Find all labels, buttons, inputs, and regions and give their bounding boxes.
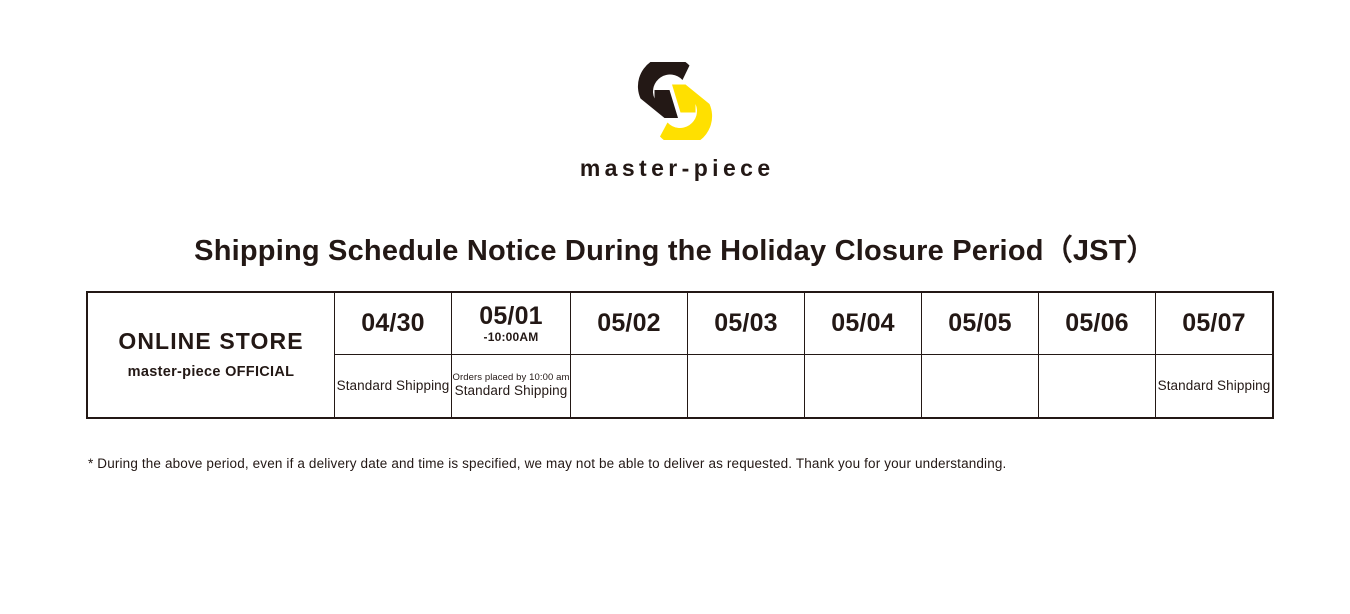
shipping-status: Standard Shipping <box>1156 378 1272 395</box>
date-label: 05/07 <box>1156 310 1272 336</box>
date-label: 05/05 <box>922 310 1038 336</box>
status-cell-0503-closed <box>688 355 805 419</box>
status-cell-0501: Orders placed by 10:00 am Standard Shipp… <box>452 355 571 419</box>
date-label: 04/30 <box>335 310 451 336</box>
shipping-status: Standard Shipping <box>335 378 451 395</box>
schedule-table-wrap: ONLINE STORE master-piece OFFICIAL 04/30… <box>86 291 1263 419</box>
status-cell-0504-closed <box>805 355 922 419</box>
date-label: 05/06 <box>1039 310 1155 336</box>
date-cutoff-time: -10:00AM <box>452 331 570 344</box>
date-label: 05/04 <box>805 310 921 336</box>
status-cell-0430: Standard Shipping <box>335 355 452 419</box>
brand-logo-block: master-piece <box>0 62 1350 180</box>
date-header-0504: 05/04 <box>805 292 922 355</box>
date-header-0505: 05/05 <box>922 292 1039 355</box>
shipping-cutoff-note: Orders placed by 10:00 am <box>452 372 570 383</box>
date-header-0503: 05/03 <box>688 292 805 355</box>
date-header-0502: 05/02 <box>571 292 688 355</box>
date-label: 05/03 <box>688 310 804 336</box>
date-header-0430: 04/30 <box>335 292 452 355</box>
shipping-status: Standard Shipping <box>452 383 570 400</box>
shipping-schedule-table: ONLINE STORE master-piece OFFICIAL 04/30… <box>86 291 1274 419</box>
notice-page: master-piece Shipping Schedule Notice Du… <box>0 0 1350 614</box>
date-label: 05/01 <box>452 303 570 329</box>
status-cell-0505-closed <box>922 355 1039 419</box>
page-title: Shipping Schedule Notice During the Holi… <box>0 234 1350 269</box>
store-name: ONLINE STORE <box>88 329 334 354</box>
status-cell-0502-closed <box>571 355 688 419</box>
master-piece-logo-icon <box>629 62 721 140</box>
status-cell-0506-closed <box>1039 355 1156 419</box>
table-row-header: ONLINE STORE master-piece OFFICIAL 04/30… <box>87 292 1273 355</box>
brand-wordmark: master-piece <box>575 157 774 180</box>
store-cell: ONLINE STORE master-piece OFFICIAL <box>87 292 335 418</box>
footnote-text: * During the above period, even if a del… <box>88 455 1288 474</box>
status-cell-0507: Standard Shipping <box>1156 355 1274 419</box>
date-label: 05/02 <box>571 310 687 336</box>
date-header-0506: 05/06 <box>1039 292 1156 355</box>
store-subtitle: master-piece OFFICIAL <box>88 365 334 381</box>
date-header-0501: 05/01 -10:00AM <box>452 292 571 355</box>
date-header-0507: 05/07 <box>1156 292 1274 355</box>
